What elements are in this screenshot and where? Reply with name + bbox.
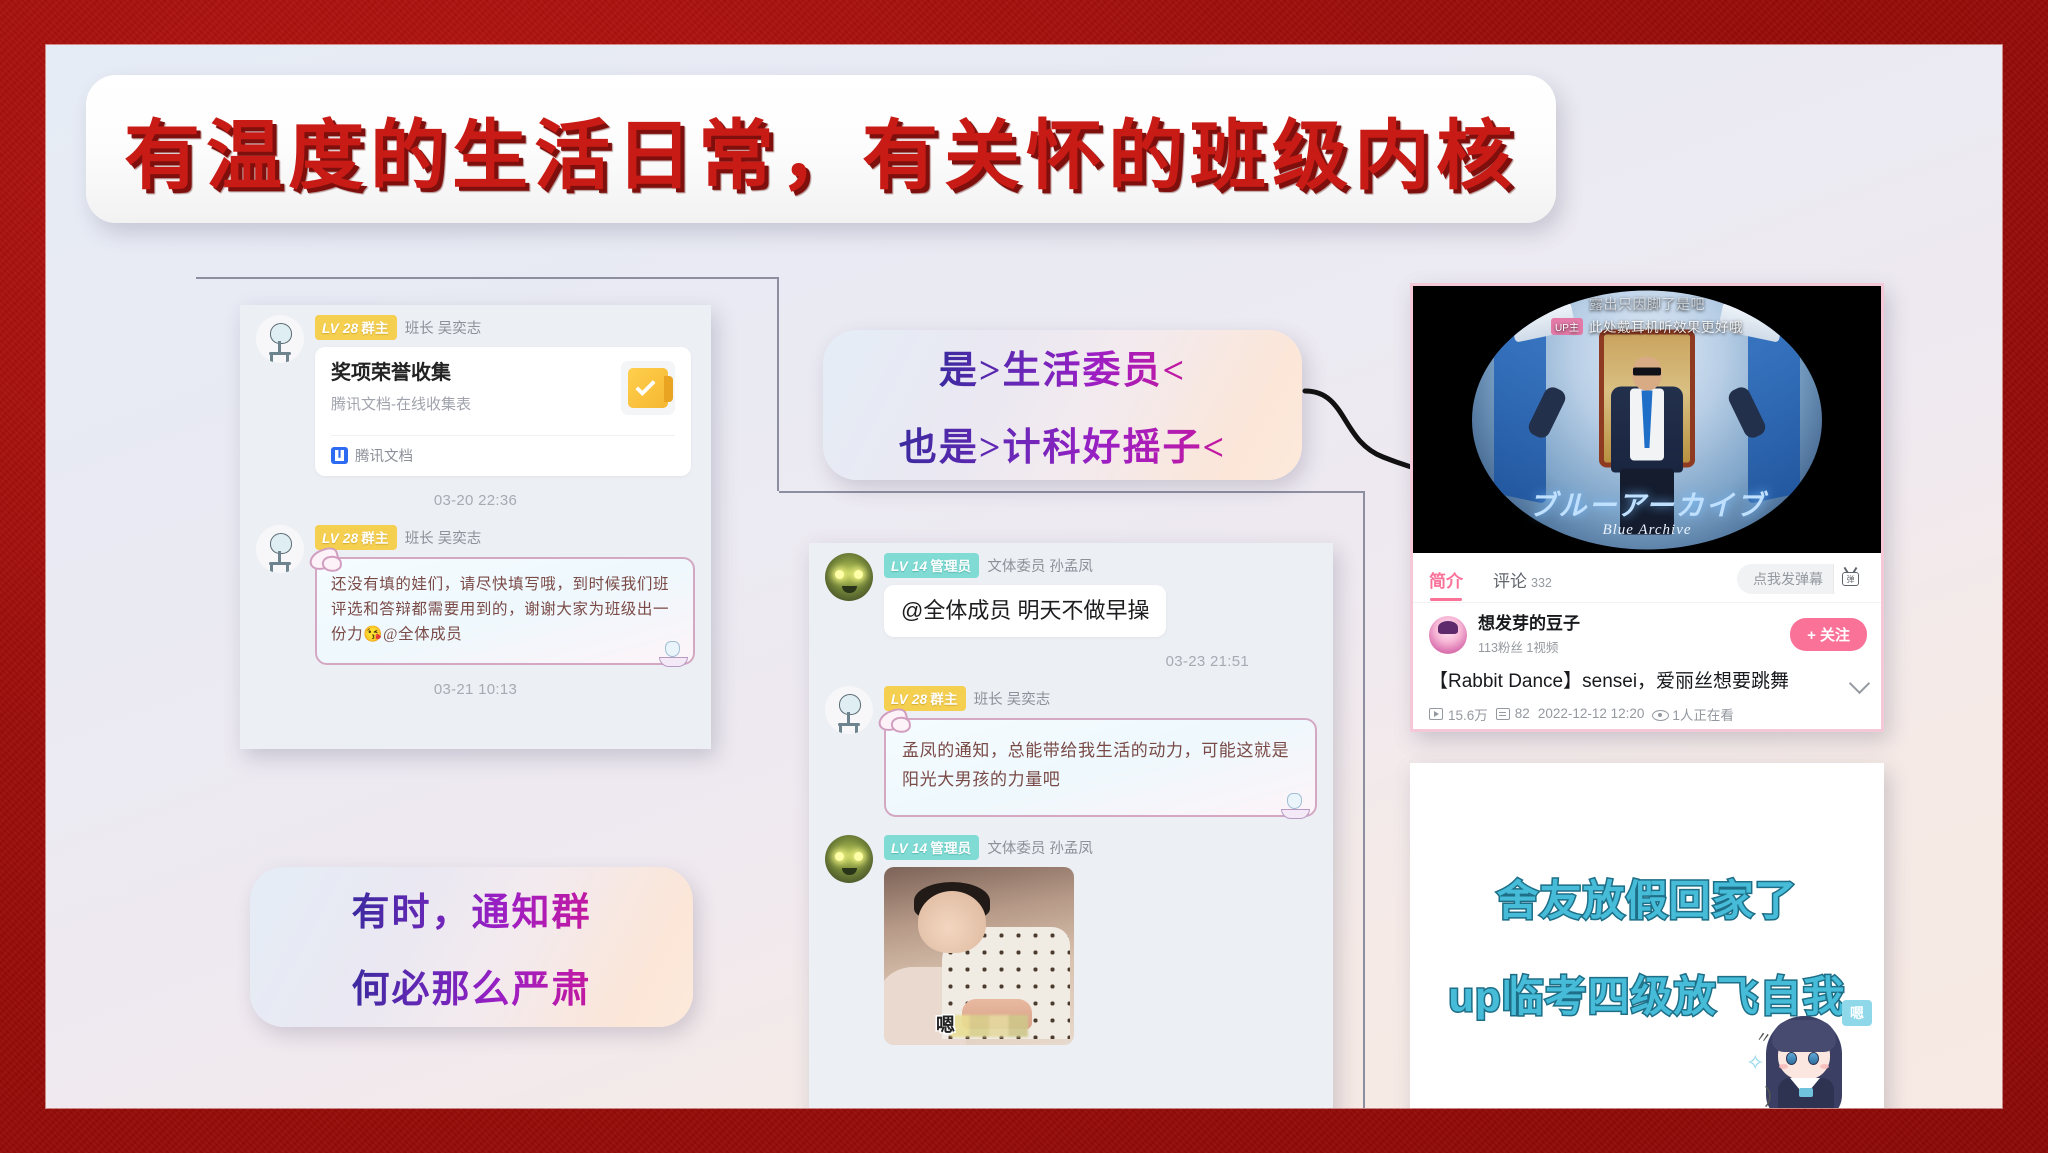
avatar[interactable]: [825, 553, 873, 601]
danmaku-input[interactable]: 点我发弹幕 弹: [1737, 564, 1867, 594]
callout-line-2: 也是>计科好摇子<: [899, 416, 1226, 471]
callout-box-bottom: 有时，通知群 何必那么严肃: [250, 867, 693, 1027]
danmaku-send-button[interactable]: 弹: [1833, 564, 1867, 594]
level-badge-lv: LV 28: [891, 692, 927, 707]
up-tag-badge: UP主: [1551, 318, 1583, 335]
danmaku-input-placeholder: 点我发弹幕: [1753, 569, 1823, 589]
bilibili-video-panel[interactable]: 露出只因脚了是吧 UP主 此处戴耳机听效果更好哦 ブルーアーカイブ Blue A…: [1410, 283, 1884, 732]
bow-decoration-icon: [876, 706, 911, 734]
level-badge: LV 14管理员: [884, 553, 979, 578]
sender-name: 班长 吴奕志: [405, 527, 482, 548]
chat-message: LV 28群主 班长 吴奕志 还没有填的娃们，请尽快填写哦，到时候我们班评选和答…: [240, 515, 711, 665]
danmaku-value: 82: [1515, 706, 1530, 721]
callout-line-2: 何必那么严肃: [351, 958, 591, 1013]
callout-box-top: 是>生活委员< 也是>计科好摇子<: [823, 330, 1302, 480]
page-title: 有温度的生活日常，有关怀的班级内核: [124, 94, 1518, 204]
sender-line: LV 28群主 班长 吴奕志: [315, 315, 695, 340]
game-logo-en: Blue Archive: [1528, 522, 1765, 539]
watching-stat: 1人正在看: [1652, 704, 1734, 724]
sender-name: 班长 吴奕志: [405, 317, 482, 338]
doc-card-subtitle: 腾讯文档-在线收集表: [331, 393, 611, 414]
watching-value: 1人正在看: [1672, 704, 1734, 724]
game-logo: ブルーアーカイブ Blue Archive: [1528, 484, 1765, 539]
uploader-row[interactable]: 想发芽的豆子 113粉丝 1视频 + 关注: [1413, 603, 1881, 662]
title-banner: 有温度的生活日常，有关怀的班级内核: [86, 75, 1556, 223]
video-title: 【Rabbit Dance】sensei，爱丽丝想要跳舞: [1429, 670, 1844, 695]
image-caption: 嗯: [936, 1010, 955, 1037]
sender-line: LV 28群主 班长 吴奕志: [884, 686, 1317, 711]
sparkle-icon: ✧: [1746, 1050, 1764, 1076]
sender-name: 文体委员 孙孟凤: [987, 837, 1093, 858]
potion-decoration-icon: [659, 641, 689, 667]
callout-line-1: 是>生活委员<: [939, 339, 1186, 394]
tab-comments[interactable]: 评论332: [1493, 567, 1552, 592]
video-tabs: 简介 评论332 点我发弹幕 弹: [1413, 553, 1881, 603]
level-badge: LV 28群主: [884, 686, 966, 711]
slide-canvas: 有温度的生活日常，有关怀的班级内核 LV 28群主 班长 吴奕志 奖项荣誉收集: [46, 45, 2002, 1108]
level-badge-lv: LV 14: [891, 841, 927, 856]
paren-decoration-icon: ）: [1764, 1080, 1786, 1108]
level-badge-lv: LV 28: [322, 531, 358, 546]
doc-card-source: 腾讯文档: [355, 445, 413, 466]
level-badge-role: 群主: [361, 321, 388, 336]
chat-message: LV 14管理员 文体委员 孙孟凤 @全体成员 明天不做早操: [809, 543, 1333, 637]
publish-date: 2022-12-12 12:20: [1538, 706, 1645, 721]
danmaku-line-1: 露出只因脚了是吧: [1413, 294, 1881, 314]
eye-icon: [1652, 707, 1667, 720]
video-title-row[interactable]: 【Rabbit Dance】sensei，爱丽丝想要跳舞: [1413, 662, 1881, 695]
meme-line-1: 舍友放假回家了: [1410, 867, 1884, 928]
level-badge-lv: LV 14: [891, 559, 927, 574]
tab-comments-count: 332: [1531, 576, 1552, 590]
level-badge: LV 28群主: [315, 315, 397, 340]
avatar[interactable]: [256, 525, 304, 573]
message-bubble[interactable]: @全体成员 明天不做早操: [884, 585, 1166, 637]
level-badge: LV 14管理员: [884, 835, 979, 860]
views-value: 15.6万: [1448, 704, 1488, 724]
play-icon: [1429, 708, 1443, 720]
follow-button[interactable]: + 关注: [1790, 618, 1867, 651]
potion-decoration-icon: [1281, 793, 1311, 819]
doc-thumbnail-icon: [621, 361, 675, 415]
sender-line: LV 14管理员 文体委员 孙孟凤: [884, 835, 1317, 860]
callout-line-1: 有时，通知群: [351, 881, 591, 936]
avatar[interactable]: [825, 835, 873, 883]
image-message[interactable]: 嗯: [884, 867, 1074, 1045]
uploader-name: 想发芽的豆子: [1478, 613, 1779, 634]
tencent-doc-card[interactable]: 奖项荣誉收集 腾讯文档-在线收集表 腾讯文档: [315, 347, 691, 476]
message-timestamp: 03-23 21:51: [809, 637, 1333, 676]
sticker-note: 嗯: [1842, 1000, 1872, 1026]
sender-line: LV 14管理员 文体委员 孙孟凤: [884, 553, 1317, 578]
views-stat: 15.6万: [1429, 704, 1488, 724]
message-bubble-decorated[interactable]: 还没有填的娃们，请尽快填写哦，到时候我们班评选和答辩都需要用到的，谢谢大家为班级…: [315, 557, 695, 665]
level-badge-role: 群主: [930, 692, 957, 707]
bow-decoration-icon: [307, 545, 342, 573]
level-badge-role: 管理员: [930, 841, 971, 856]
tv-danmaku-icon: 弹: [1842, 572, 1859, 586]
sender-line: LV 28群主 班长 吴奕志: [315, 525, 695, 550]
video-stats: 15.6万 82 2022-12-12 12:20 1人正在看: [1413, 695, 1881, 732]
danmaku-line-2-text: 此处戴耳机听效果更好哦: [1589, 316, 1743, 336]
message-timestamp: 03-21 10:13: [240, 665, 711, 704]
meme-text-card: 舍友放假回家了 up临考四级放飞自我 ✧ 〃 嗯 ）: [1410, 763, 1884, 1108]
danmaku-stat: 82: [1496, 706, 1530, 721]
qq-chat-panel-middle[interactable]: LV 14管理员 文体委员 孙孟凤 @全体成员 明天不做早操 03-23 21:…: [809, 543, 1333, 1108]
message-bubble-decorated[interactable]: 孟凤的通知，总能带给我生活的动力，可能这就是阳光大男孩的力量吧: [884, 718, 1317, 818]
level-badge: LV 28群主: [315, 525, 397, 550]
chat-message: LV 14管理员 文体委员 孙孟凤 嗯: [809, 817, 1333, 1045]
uploader-stats: 113粉丝 1视频: [1478, 637, 1779, 656]
level-badge-role: 群主: [361, 531, 388, 546]
danmaku-icon: [1496, 708, 1510, 720]
level-badge-lv: LV 28: [322, 321, 358, 336]
tab-intro[interactable]: 简介: [1429, 567, 1463, 592]
chat-message: LV 28群主 班长 吴奕志 孟凤的通知，总能带给我生活的动力，可能这就是阳光大…: [809, 676, 1333, 818]
game-logo-jp: ブルーアーカイブ: [1528, 484, 1765, 524]
tencent-doc-icon: [331, 447, 348, 464]
qq-chat-panel-left[interactable]: LV 28群主 班长 吴奕志 奖项荣誉收集 腾讯文档-在线收集表: [240, 305, 711, 749]
tab-comments-label: 评论: [1493, 572, 1527, 591]
avatar[interactable]: [256, 315, 304, 363]
level-badge-role: 管理员: [930, 559, 971, 574]
message-text: 孟凤的通知，总能带给我生活的动力，可能这就是阳光大男孩的力量吧: [902, 741, 1289, 790]
chevron-down-icon[interactable]: [1849, 673, 1870, 694]
tab-intro-label: 简介: [1429, 572, 1463, 591]
danmaku-line-2: UP主 此处戴耳机听效果更好哦: [1413, 316, 1881, 336]
doc-card-title: 奖项荣誉收集: [331, 361, 611, 386]
chibi-sticker: ✧ 〃 嗯 ）: [1744, 994, 1876, 1108]
avatar[interactable]: [825, 686, 873, 734]
avatar[interactable]: [1429, 616, 1467, 654]
sender-name: 班长 吴奕志: [974, 688, 1051, 709]
video-player[interactable]: 露出只因脚了是吧 UP主 此处戴耳机听效果更好哦 ブルーアーカイブ Blue A…: [1413, 286, 1881, 553]
message-timestamp: 03-20 22:36: [240, 476, 711, 515]
sender-name: 文体委员 孙孟凤: [987, 555, 1093, 576]
message-text: 还没有填的娃们，请尽快填写哦，到时候我们班评选和答辩都需要用到的，谢谢大家为班级…: [331, 576, 669, 643]
chat-message: LV 28群主 班长 吴奕志 奖项荣誉收集 腾讯文档-在线收集表: [240, 305, 711, 476]
